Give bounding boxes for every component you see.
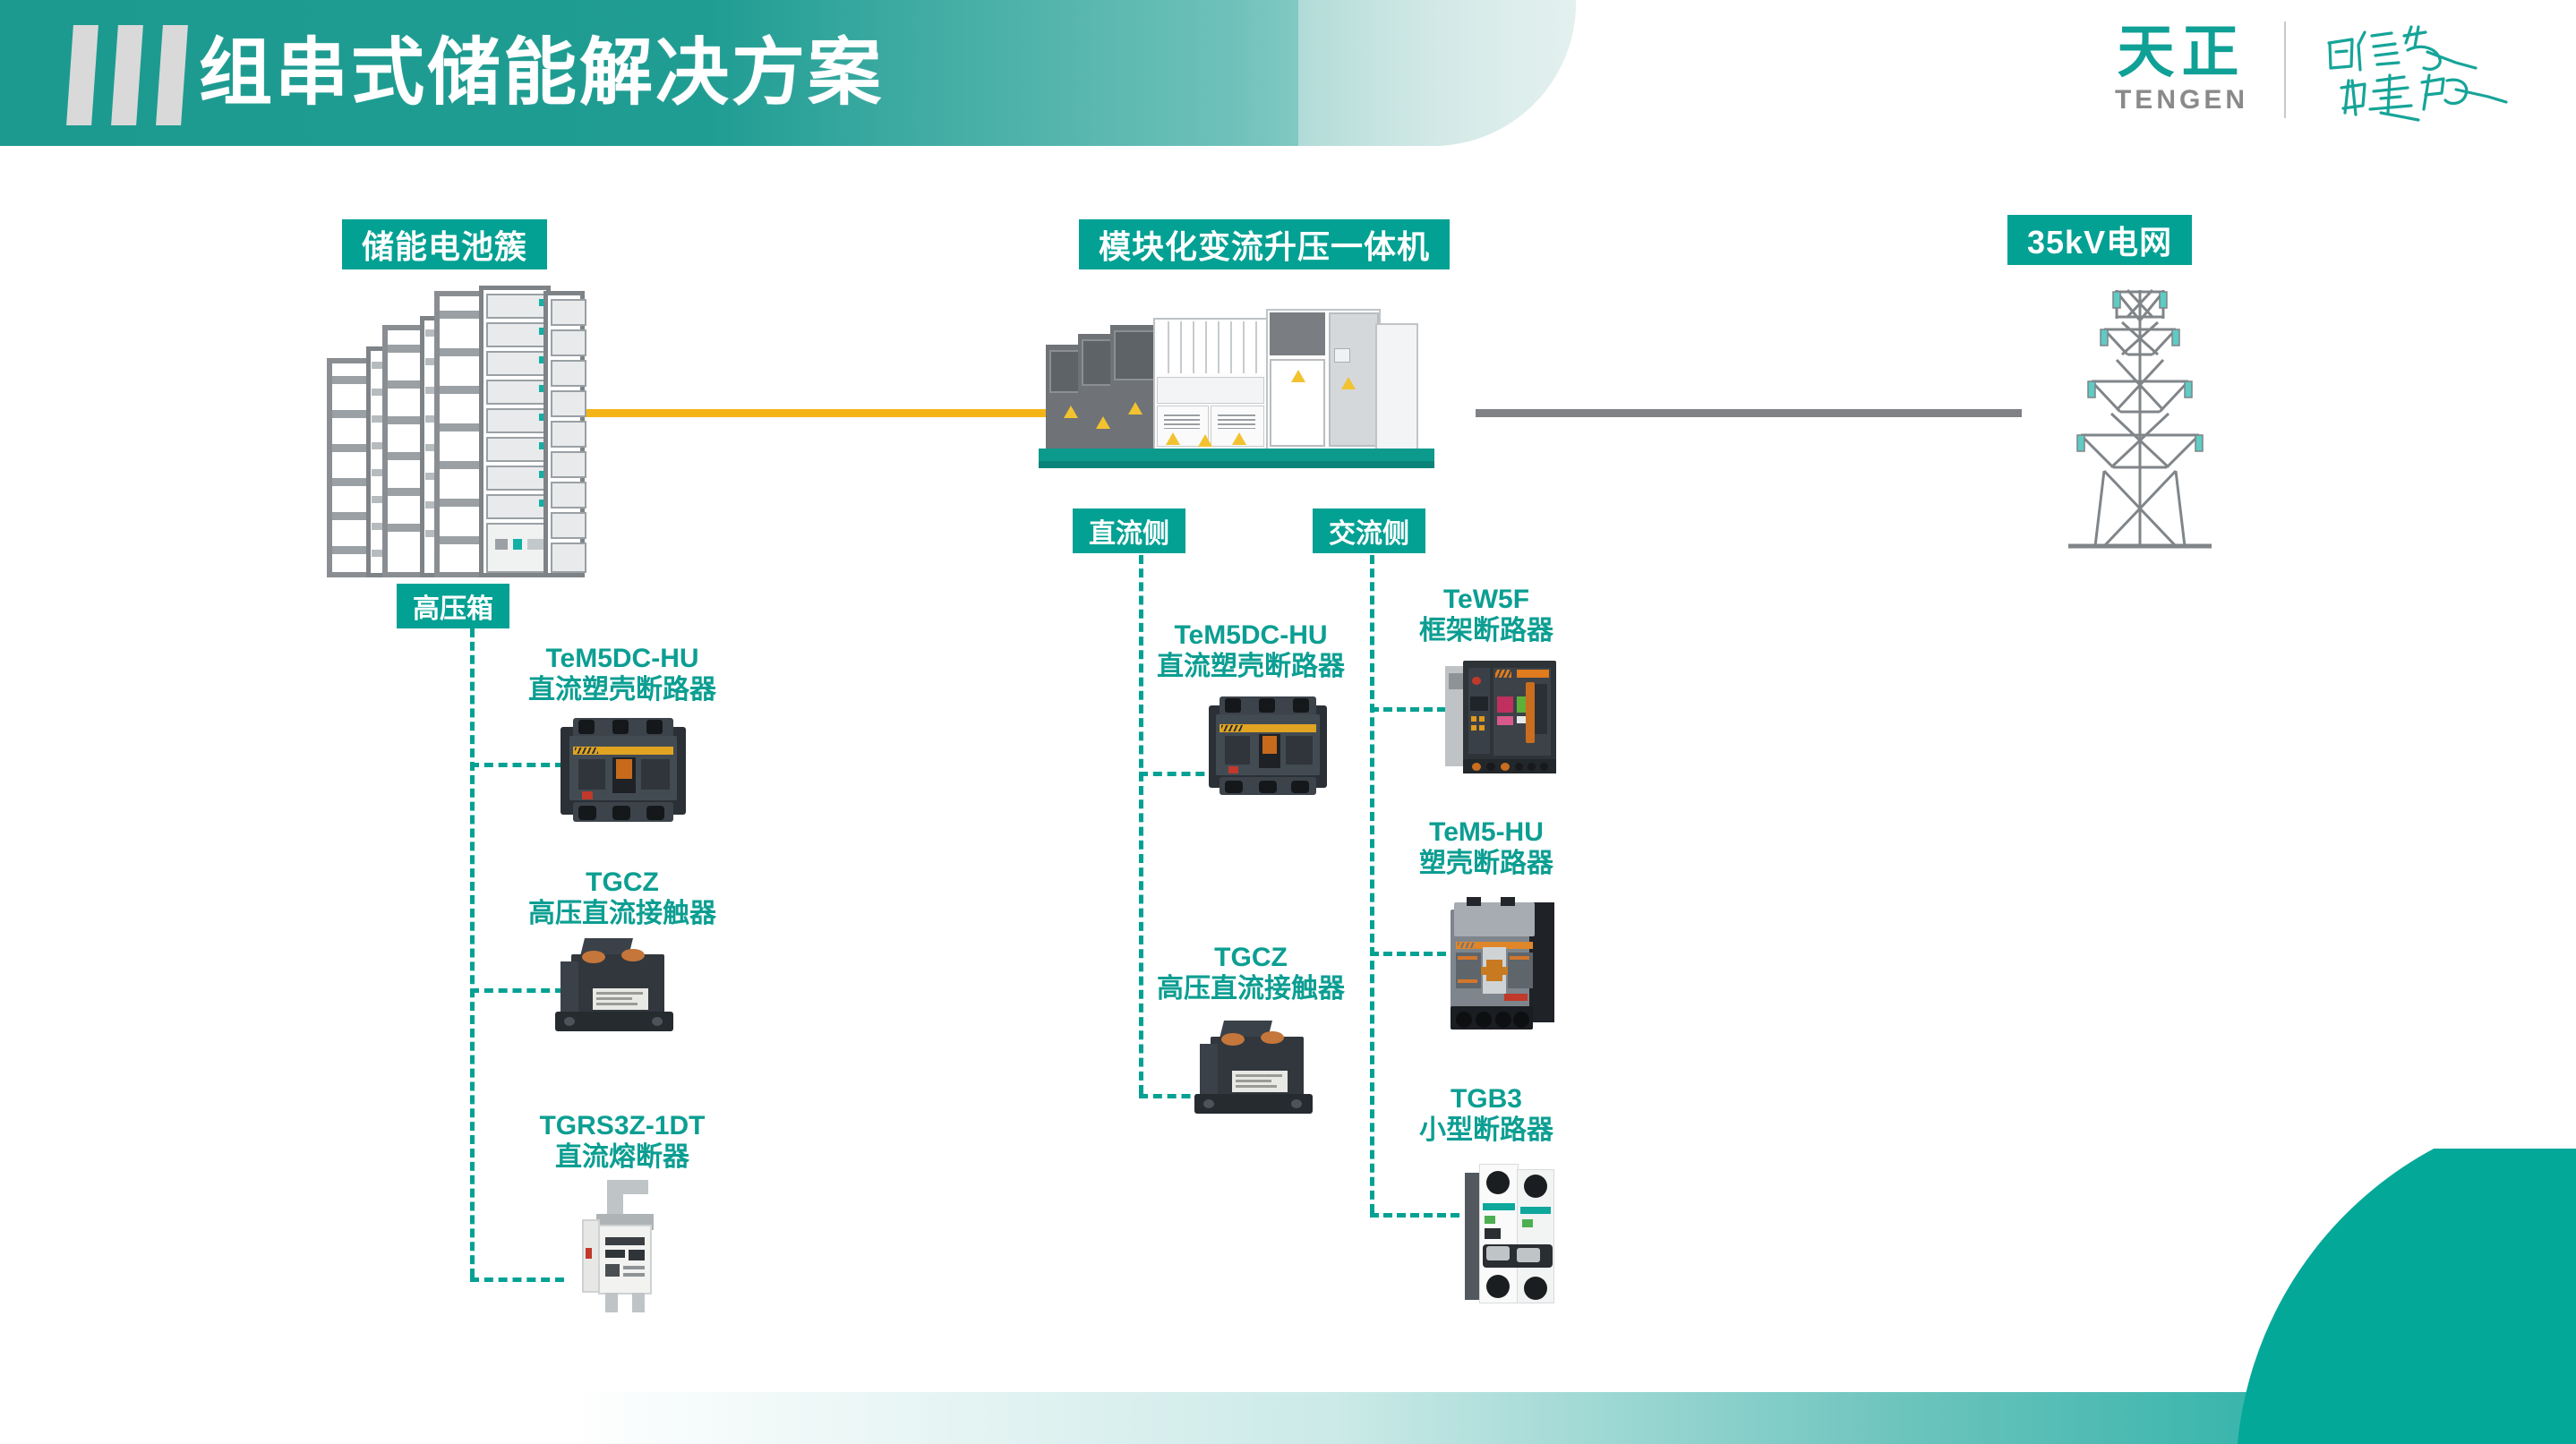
header-gradient-tint <box>1298 0 1576 146</box>
bottom-right-curve-decoration <box>2236 1149 2576 1444</box>
page-header: 组串式储能解决方案 <box>0 0 1576 146</box>
product-ac-0: TeW5F 框架断路器 <box>1361 584 1612 647</box>
product-code: TGCZ <box>497 867 748 898</box>
dc-bus-line <box>580 409 1126 417</box>
section-label-high-voltage-box: 高压箱 <box>397 584 509 628</box>
product-code: TGB3 <box>1361 1083 1612 1115</box>
product-battery-0: TeM5DC-HU 直流塑壳断路器 <box>497 643 748 706</box>
product-code: TeM5DC-HU <box>497 643 748 674</box>
moulded-case-breaker-icon <box>1209 696 1327 797</box>
ac-branch-2 <box>1370 952 1459 956</box>
battery-branch-3 <box>470 1277 564 1282</box>
dc-contactor-icon <box>1191 1021 1325 1128</box>
battery-column-trunk <box>470 628 475 1277</box>
moulded-case-breaker-icon <box>561 718 686 824</box>
product-code: TeM5DC-HU <box>1121 619 1381 651</box>
ac-branch-3 <box>1370 1213 1459 1218</box>
product-dc-0: TeM5DC-HU 直流塑壳断路器 <box>1121 619 1381 683</box>
product-ac-1: TeM5-HU 塑壳断路器 <box>1361 816 1612 880</box>
product-desc: 高压直流接触器 <box>1121 973 1381 1004</box>
product-desc: 框架断路器 <box>1361 615 1612 646</box>
product-code: TeW5F <box>1361 584 1612 615</box>
logo-slogan-handwriting <box>2322 16 2528 124</box>
dc-fuse-icon <box>569 1180 677 1314</box>
logo-chinese-name: 天正 <box>2117 24 2246 81</box>
ac-bus-line <box>1476 409 2022 417</box>
section-label-dc-side: 直流侧 <box>1073 508 1185 553</box>
section-label-grid: 35kV电网 <box>2007 215 2192 265</box>
section-label-pcs: 模块化变流升压一体机 <box>1079 219 1450 269</box>
product-battery-1: TGCZ 高压直流接触器 <box>497 867 748 930</box>
product-battery-2: TGRS3Z-1DT 直流熔断器 <box>497 1110 748 1174</box>
transmission-tower-icon <box>2041 278 2238 564</box>
dc-contactor-icon <box>552 938 686 1046</box>
product-code: TGRS3Z-1DT <box>497 1110 748 1141</box>
brand-logo: 天正 TENGEN <box>2115 16 2528 124</box>
three-bars-icon <box>70 25 184 125</box>
product-ac-2: TGB3 小型断路器 <box>1361 1083 1612 1147</box>
battery-rack-illustration <box>327 282 586 577</box>
miniature-circuit-breaker-icon <box>1465 1164 1560 1307</box>
pcs-container-illustration <box>1046 309 1431 488</box>
battery-branch-2 <box>470 988 564 993</box>
product-desc: 直流塑壳断路器 <box>1121 651 1381 682</box>
moulded-case-breaker-large-icon <box>1451 893 1556 1037</box>
product-dc-1: TGCZ 高压直流接触器 <box>1121 942 1381 1005</box>
logo-mark: 天正 TENGEN <box>2115 24 2248 115</box>
bottom-accent-bar <box>0 1392 2576 1444</box>
product-desc: 直流塑壳断路器 <box>497 674 748 705</box>
product-desc: 高压直流接触器 <box>497 898 748 929</box>
battery-branch-1 <box>470 763 564 767</box>
page-title: 组串式储能解决方案 <box>199 23 884 124</box>
product-code: TeM5-HU <box>1361 816 1612 848</box>
section-label-battery: 储能电池簇 <box>342 219 547 269</box>
logo-english-name: TENGEN <box>2115 85 2248 115</box>
product-desc: 直流熔断器 <box>497 1141 748 1173</box>
air-circuit-breaker-icon <box>1445 661 1556 773</box>
logo-divider <box>2284 21 2286 118</box>
section-label-ac-side: 交流侧 <box>1313 508 1425 553</box>
product-desc: 塑壳断路器 <box>1361 848 1612 879</box>
product-desc: 小型断路器 <box>1361 1115 1612 1146</box>
product-code: TGCZ <box>1121 942 1381 973</box>
